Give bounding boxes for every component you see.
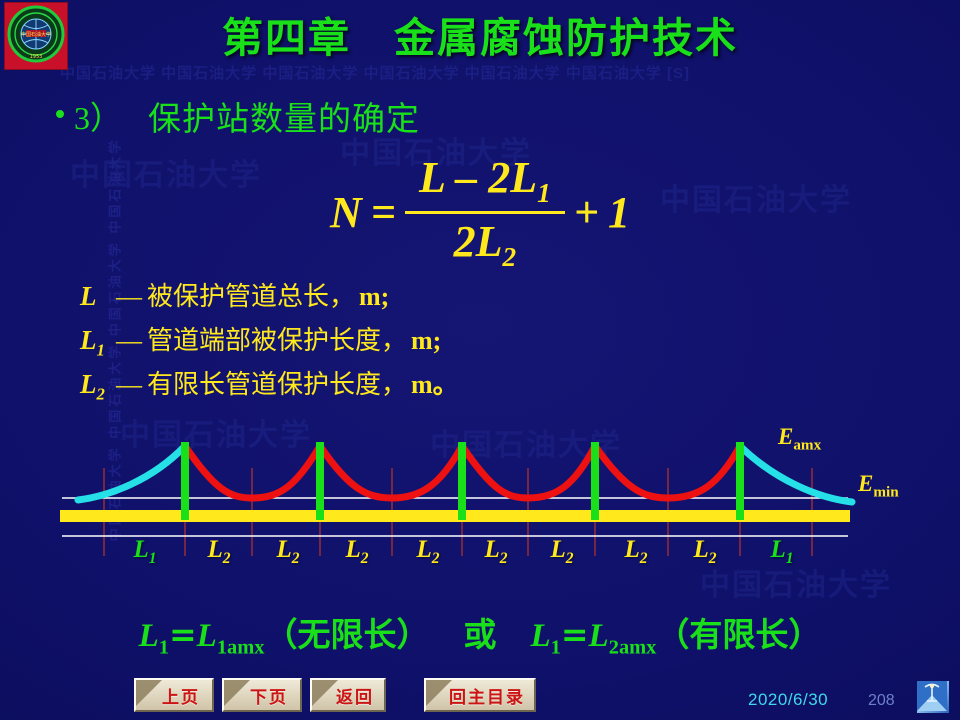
def-unit: m。 bbox=[411, 364, 459, 401]
bullet-dot-icon bbox=[56, 110, 64, 118]
segment-label: L2 bbox=[345, 536, 368, 568]
segment-label: L2 bbox=[276, 536, 299, 568]
formula-lhs: N bbox=[330, 187, 362, 238]
page-title: 第四章 金属腐蚀防护技术 bbox=[0, 4, 960, 64]
num-L1: L bbox=[510, 153, 537, 202]
formula-numerator: L – 2L1 bbox=[409, 152, 561, 211]
protection-station-bars bbox=[185, 442, 740, 520]
num-minus: – bbox=[455, 153, 477, 202]
def-symbol: L1 bbox=[80, 325, 114, 360]
def-symbol-letter: L bbox=[80, 281, 97, 311]
bottom-formula: L1=L1amx（无限长）或L1=L2amx（有限长） bbox=[0, 608, 960, 660]
def-dash: — bbox=[116, 282, 141, 312]
bf-left-rhs-sub: 1amx bbox=[217, 637, 265, 659]
den-L2-sub: 2 bbox=[503, 242, 517, 272]
symbol-definitions: L — 被保护管道总长， m; L1 — 管道端部被保护长度， m; L2 — … bbox=[80, 276, 459, 408]
formula-fraction: L – 2L1 2L2 bbox=[405, 152, 565, 273]
prev-page-button[interactable]: 上页 bbox=[134, 678, 214, 712]
prev-page-label: 上页 bbox=[148, 683, 200, 708]
next-page-label: 下页 bbox=[236, 683, 288, 708]
definition-row: L1 — 管道端部被保护长度， m; bbox=[80, 320, 459, 364]
slide-canvas: 中国石油大学 中国石油大学 中国石油大学 中国石油大学 中国石油大学 中国石油大… bbox=[0, 0, 960, 720]
label-e-min-sub: min bbox=[873, 484, 898, 501]
potential-profile-diagram: Eamx Emin L1 L2 L2 L2 L2 L2 L2 L2 L2 L1 bbox=[0, 418, 960, 588]
segment-letter: L bbox=[345, 536, 360, 563]
def-dash: — bbox=[116, 370, 141, 400]
def-symbol: L bbox=[80, 281, 114, 316]
label-e-min-letter: E bbox=[858, 471, 873, 496]
bf-left-eq: = bbox=[169, 615, 197, 654]
pipeline-bar bbox=[60, 510, 850, 522]
segment-sub: 1 bbox=[149, 550, 157, 567]
label-e-amx-letter: E bbox=[778, 424, 793, 449]
segment-label: L1 bbox=[133, 536, 156, 568]
bf-right-rhs-sub: 2amx bbox=[609, 637, 657, 659]
formula-equals: = bbox=[371, 187, 396, 238]
segment-sub: 2 bbox=[361, 550, 369, 567]
label-e-amx: Eamx bbox=[778, 424, 821, 455]
segment-label: L1 bbox=[770, 536, 793, 568]
segment-sub: 2 bbox=[566, 550, 574, 567]
num-two: 2 bbox=[488, 153, 510, 202]
bf-right-sym: L bbox=[531, 618, 551, 654]
def-symbol: L2 bbox=[80, 369, 114, 404]
num-L1-sub: 1 bbox=[537, 178, 551, 208]
bf-right-eq: = bbox=[561, 615, 589, 654]
segment-sub: 2 bbox=[640, 550, 648, 567]
formula-denominator: 2L2 bbox=[444, 214, 527, 273]
label-e-min: Emin bbox=[858, 471, 899, 502]
bullet-label: 保护站数量的确定 bbox=[148, 92, 420, 140]
segment-letter: L bbox=[276, 536, 291, 563]
formula-plus: + bbox=[574, 187, 599, 238]
bf-left-note: （无限长） bbox=[265, 615, 430, 654]
segment-sub: 2 bbox=[432, 550, 440, 567]
segment-sub: 2 bbox=[223, 550, 231, 567]
main-menu-label: 回主目录 bbox=[435, 683, 525, 708]
formula-one: 1 bbox=[608, 187, 630, 238]
bf-conjunction: 或 bbox=[464, 615, 497, 654]
num-L: L bbox=[419, 153, 444, 202]
next-page-button[interactable]: 下页 bbox=[222, 678, 302, 712]
bf-left-rhs: L bbox=[197, 618, 217, 654]
segment-letter: L bbox=[133, 536, 148, 563]
decorative-emblem-icon bbox=[916, 680, 950, 714]
segment-label: L2 bbox=[550, 536, 573, 568]
bf-left-sym: L bbox=[139, 618, 159, 654]
back-button[interactable]: 返回 bbox=[310, 678, 386, 712]
segment-sub: 2 bbox=[500, 550, 508, 567]
segment-letter: L bbox=[207, 536, 222, 563]
def-dash: — bbox=[116, 326, 141, 356]
def-symbol-sub: 1 bbox=[97, 340, 105, 359]
def-symbol-letter: L bbox=[80, 325, 97, 355]
den-two: 2 bbox=[454, 217, 476, 266]
def-symbol-letter: L bbox=[80, 369, 97, 399]
den-L2: L bbox=[476, 217, 503, 266]
emblem-glyph-icon bbox=[917, 681, 947, 711]
bf-right-rhs: L bbox=[589, 618, 609, 654]
segment-sub: 2 bbox=[709, 550, 717, 567]
segment-label: L2 bbox=[693, 536, 716, 568]
segment-label: L2 bbox=[624, 536, 647, 568]
segment-letter: L bbox=[416, 536, 431, 563]
segment-sub: 1 bbox=[786, 550, 794, 567]
bf-right-note: （有限长） bbox=[656, 615, 821, 654]
segment-label: L2 bbox=[416, 536, 439, 568]
segment-sub: 2 bbox=[292, 550, 300, 567]
segment-label-row: L1 L2 L2 L2 L2 L2 L2 L2 L2 L1 bbox=[0, 536, 960, 576]
segment-letter: L bbox=[770, 536, 785, 563]
footer-date: 2020/6/30 bbox=[748, 690, 828, 710]
definition-row: L2 — 有限长管道保护长度， m。 bbox=[80, 364, 459, 408]
main-formula: N = L – 2L1 2L2 + 1 bbox=[0, 152, 960, 273]
def-text: 被保护管道总长， bbox=[147, 276, 355, 313]
segment-letter: L bbox=[693, 536, 708, 563]
segment-label: L2 bbox=[207, 536, 230, 568]
segment-label: L2 bbox=[484, 536, 507, 568]
bf-left-sub: 1 bbox=[159, 637, 169, 659]
back-label: 返回 bbox=[322, 683, 374, 708]
footer-page-number: 208 bbox=[868, 692, 895, 710]
bf-right-sub: 1 bbox=[551, 637, 561, 659]
def-symbol-sub: 2 bbox=[97, 384, 105, 403]
segment-letter: L bbox=[624, 536, 639, 563]
bullet-number: 3） bbox=[74, 93, 122, 139]
def-text: 有限长管道保护长度， bbox=[147, 364, 407, 401]
def-unit: m; bbox=[411, 326, 441, 356]
segment-letter: L bbox=[550, 536, 565, 563]
main-menu-button[interactable]: 回主目录 bbox=[424, 678, 536, 712]
segment-letter: L bbox=[484, 536, 499, 563]
label-e-amx-sub: amx bbox=[793, 437, 821, 454]
def-text: 管道端部被保护长度， bbox=[147, 320, 407, 357]
definition-row: L — 被保护管道总长， m; bbox=[80, 276, 459, 320]
bullet-heading: 3） 保护站数量的确定 bbox=[56, 92, 420, 140]
def-unit: m; bbox=[359, 282, 389, 312]
slide-header: 中国石油大学 1953 第四章 金属腐蚀防护技术 bbox=[0, 0, 960, 72]
